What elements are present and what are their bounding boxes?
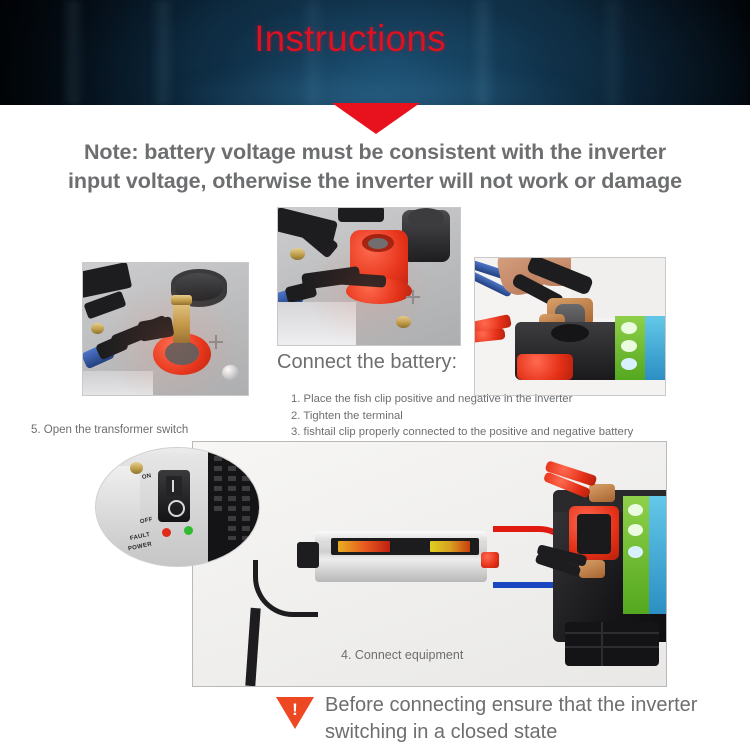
- inverter-terminal-red-ring-photo: [82, 262, 249, 396]
- power-led-indicator: [184, 526, 193, 535]
- warning-exclamation-glyph: !: [292, 701, 298, 718]
- connect-battery-heading: Connect the battery:: [277, 349, 457, 375]
- warning-triangle-icon: !: [276, 697, 314, 729]
- list-item: 2. Tighten the terminal: [291, 408, 721, 425]
- hands-connecting-clamp-photo: [474, 257, 666, 396]
- warning-line-1: Before connecting ensure that the invert…: [325, 694, 697, 716]
- header-glow: [165, 62, 585, 105]
- step-5-caption: 5. Open the transformer switch: [31, 422, 188, 438]
- step-4-caption: 4. Connect equipment: [341, 647, 463, 663]
- transformer-switch-callout: ON OFF FAULT POWER: [95, 447, 260, 567]
- note-line-1: Note: battery voltage must be consistent…: [84, 140, 666, 164]
- note-text: Note: battery voltage must be consistent…: [0, 138, 750, 196]
- instructions-page: Instructions Note: battery voltage must …: [0, 0, 750, 750]
- page-title: Instructions: [0, 17, 725, 61]
- list-item: 1. Place the fish clip positive and nega…: [291, 391, 721, 408]
- list-item: 3. fishtail clip properly connected to t…: [291, 424, 721, 441]
- page-header: Instructions: [0, 0, 750, 105]
- inverter-terminal-cap-photo: [277, 207, 461, 346]
- warning-line-2: switching in a closed state: [325, 719, 745, 746]
- bottom-warning-text: Before connecting ensure that the invert…: [325, 692, 745, 746]
- note-line-2: input voltage, otherwise the inverter wi…: [0, 167, 750, 196]
- connect-battery-steps: 1. Place the fish clip positive and nega…: [291, 391, 721, 441]
- red-arrow-divider-icon: [332, 103, 420, 134]
- fault-led-indicator: [162, 528, 171, 537]
